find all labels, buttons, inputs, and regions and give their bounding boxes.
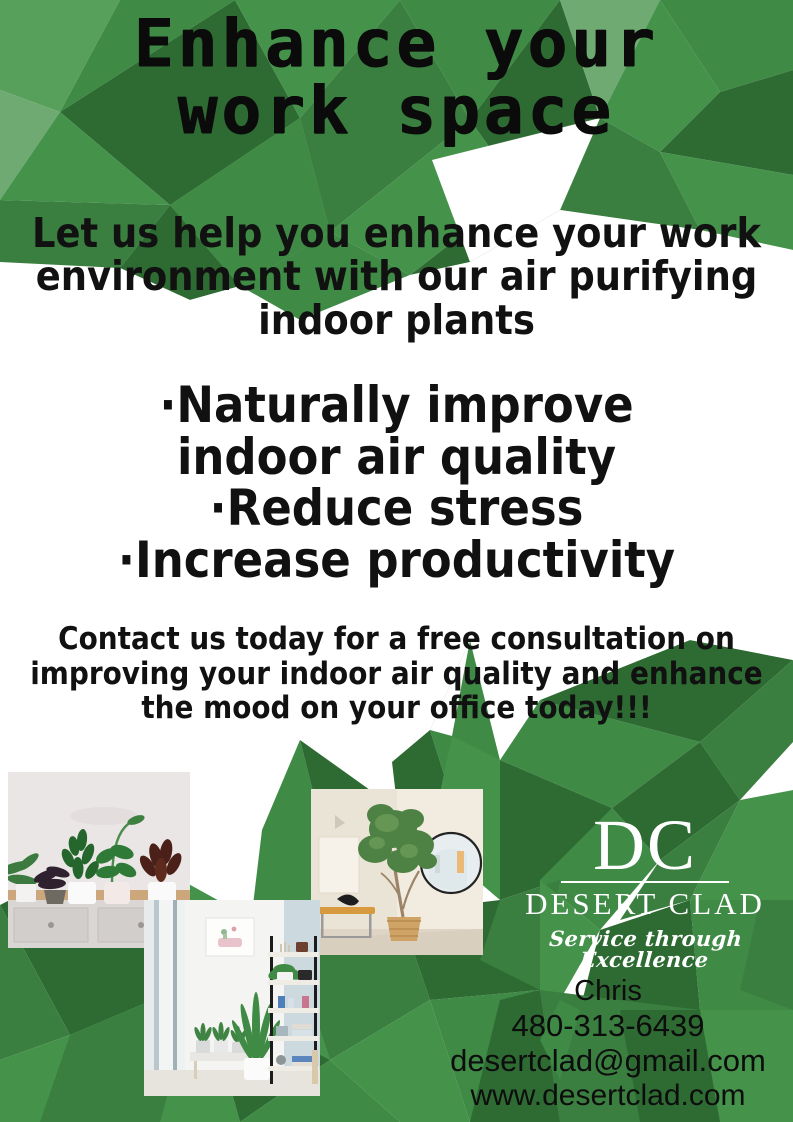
call-to-action-paragraph: Contact us today for a free consultation… bbox=[18, 622, 775, 726]
benefit-item: ·Increase productivity bbox=[18, 535, 775, 587]
page-title-line-1: Enhance your bbox=[134, 5, 659, 82]
logo-tagline: Service through Excellence bbox=[499, 928, 792, 970]
page-title-line-2: work space bbox=[0, 79, 793, 144]
cta-line-2: improving your indoor air quality and en… bbox=[30, 656, 762, 692]
benefit-item: ·Reduce stress bbox=[18, 483, 775, 535]
logo-monogram: DC bbox=[500, 812, 790, 878]
benefit-item: indoor air quality bbox=[18, 432, 775, 484]
page-title: Enhance your work space bbox=[0, 12, 793, 143]
benefits-list: ·Naturally improve indoor air quality ·R… bbox=[18, 380, 775, 586]
photo-plant-shelf-corner bbox=[144, 900, 320, 1096]
photo-tree-in-room bbox=[311, 789, 483, 955]
company-logo: DC DESERT CLAD Service through Excellenc… bbox=[500, 812, 790, 964]
contact-email[interactable]: desertclad@gmail.com bbox=[432, 1043, 784, 1078]
benefit-item: ·Naturally improve bbox=[18, 380, 775, 432]
cta-line-3: the mood on your office today!!! bbox=[141, 690, 651, 726]
flyer-page: Enhance your work space Let us help you … bbox=[0, 0, 793, 1122]
cta-line-1: Contact us today for a free consultation… bbox=[58, 621, 735, 657]
photo-tree-room-art bbox=[311, 789, 483, 955]
contact-name: Chris bbox=[432, 975, 784, 1008]
lead-line-1: Let us help you enhance your work bbox=[32, 209, 761, 257]
logo-wordmark: DESERT CLAD bbox=[500, 888, 790, 919]
lead-line-2: environment with our air purifying bbox=[36, 252, 757, 300]
photo-shelf-art bbox=[144, 900, 320, 1096]
lead-line-3: indoor plants bbox=[258, 296, 535, 344]
lead-paragraph: Let us help you enhance your work enviro… bbox=[18, 212, 775, 342]
contact-phone[interactable]: 480-313-6439 bbox=[432, 1008, 784, 1043]
contact-block: Chris 480-313-6439 desertclad@gmail.com … bbox=[432, 975, 784, 1113]
contact-website[interactable]: www.desertclad.com bbox=[432, 1079, 784, 1113]
